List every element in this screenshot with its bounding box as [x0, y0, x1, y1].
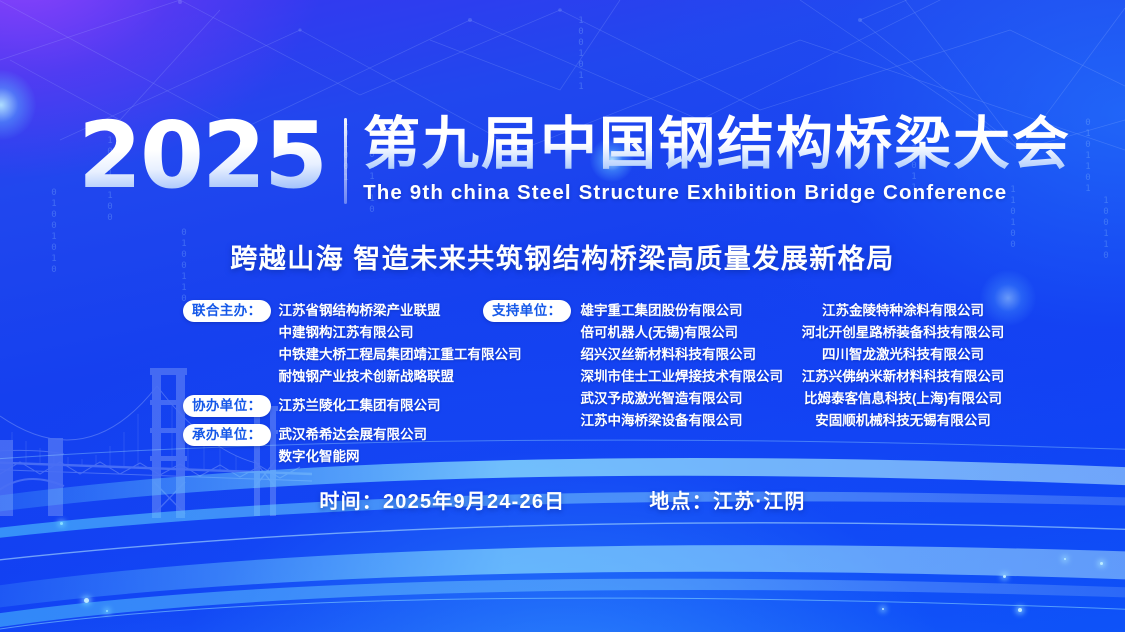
list-item: 河北开创星路桥装备科技有限公司 — [783, 322, 1023, 344]
co-host-label: 联合主办： — [183, 300, 271, 322]
list-item: 江苏兰陵化工集团有限公司 — [279, 395, 441, 417]
undertaker-label: 承办单位： — [183, 424, 271, 446]
year-title: 2025 — [78, 112, 340, 200]
glow-dot — [0, 70, 36, 140]
co-organizer-group: 协办单位： 江苏兰陵化工集团有限公司 — [183, 395, 483, 417]
event-date: 时间：2025年9月24-26日 — [319, 485, 565, 514]
list-item: 江苏兴佛纳米新材料科技有限公司 — [783, 366, 1023, 388]
list-item: 江苏金陵特种涂料有限公司 — [783, 300, 1023, 322]
page-title: 第九届中国钢结构桥梁大会 — [363, 114, 1071, 176]
supporters-group: 支持单位： 雄宇重工集团股份有限公司 倍可机器人(无锡)有限公司 绍兴汉丝新材料… — [483, 300, 783, 432]
supporters-label: 支持单位： — [483, 300, 571, 322]
organizers-column-middle: 支持单位： 雄宇重工集团股份有限公司 倍可机器人(无锡)有限公司 绍兴汉丝新材料… — [483, 300, 783, 432]
organizers-column-left: 联合主办： 江苏省钢结构桥梁产业联盟 中建钢构江苏有限公司 中铁建大桥工程局集团… — [183, 300, 483, 468]
list-item: 数字化智能网 — [279, 446, 428, 468]
list-item: 绍兴汉丝新材料科技有限公司 — [581, 344, 784, 366]
page-subtitle-en: The 9th china Steel Structure Exhibition… — [363, 181, 1071, 205]
headline-block: 2025 第九届中国钢结构桥梁大会 The 9th china Steel St… — [78, 112, 1071, 205]
supporters-extra-list: 江苏金陵特种涂料有限公司 河北开创星路桥装备科技有限公司 四川智龙激光科技有限公… — [783, 300, 1023, 432]
organizers-column-right: 江苏金陵特种涂料有限公司 河北开创星路桥装备科技有限公司 四川智龙激光科技有限公… — [783, 300, 1023, 432]
event-info: 时间：2025年9月24-26日 地点：江苏·江阴 — [0, 485, 1125, 514]
event-location: 地点：江苏·江阴 — [649, 485, 805, 514]
organizers-section: 联合主办： 江苏省钢结构桥梁产业联盟 中建钢构江苏有限公司 中铁建大桥工程局集团… — [183, 300, 1043, 468]
list-item: 比姆泰客信息科技(上海)有限公司 — [783, 388, 1023, 410]
list-item: 深圳市佳士工业焊接技术有限公司 — [581, 366, 784, 388]
list-item: 四川智龙激光科技有限公司 — [783, 344, 1023, 366]
supporters-list: 雄宇重工集团股份有限公司 倍可机器人(无锡)有限公司 绍兴汉丝新材料科技有限公司… — [581, 300, 784, 432]
undertaker-list: 武汉希希达会展有限公司 数字化智能网 — [279, 424, 428, 468]
co-host-group: 联合主办： 江苏省钢结构桥梁产业联盟 中建钢构江苏有限公司 中铁建大桥工程局集团… — [183, 300, 483, 388]
list-item: 武汉予成激光智造有限公司 — [581, 388, 784, 410]
co-organizer-list: 江苏兰陵化工集团有限公司 — [279, 395, 441, 417]
binary-stream: 1001011 — [575, 16, 587, 93]
conference-banner: 01001010 10110100 0100110 101001 011010 … — [0, 0, 1125, 632]
list-item: 江苏中海桥梁设备有限公司 — [581, 410, 784, 432]
undertaker-group: 承办单位： 武汉希希达会展有限公司 数字化智能网 — [183, 424, 483, 468]
co-organizer-label: 协办单位： — [183, 395, 271, 417]
list-item: 倍可机器人(无锡)有限公司 — [581, 322, 784, 344]
title-divider — [344, 118, 347, 204]
title-column: 第九届中国钢结构桥梁大会 The 9th china Steel Structu… — [363, 112, 1071, 205]
list-item: 雄宇重工集团股份有限公司 — [581, 300, 784, 322]
binary-stream: 0101101 — [1082, 118, 1094, 195]
list-item: 安固顺机械科技无锡有限公司 — [783, 410, 1023, 432]
list-item: 武汉希希达会展有限公司 — [279, 424, 428, 446]
slogan-text: 跨越山海 智造未来共筑钢结构桥梁高质量发展新格局 — [0, 237, 1125, 276]
